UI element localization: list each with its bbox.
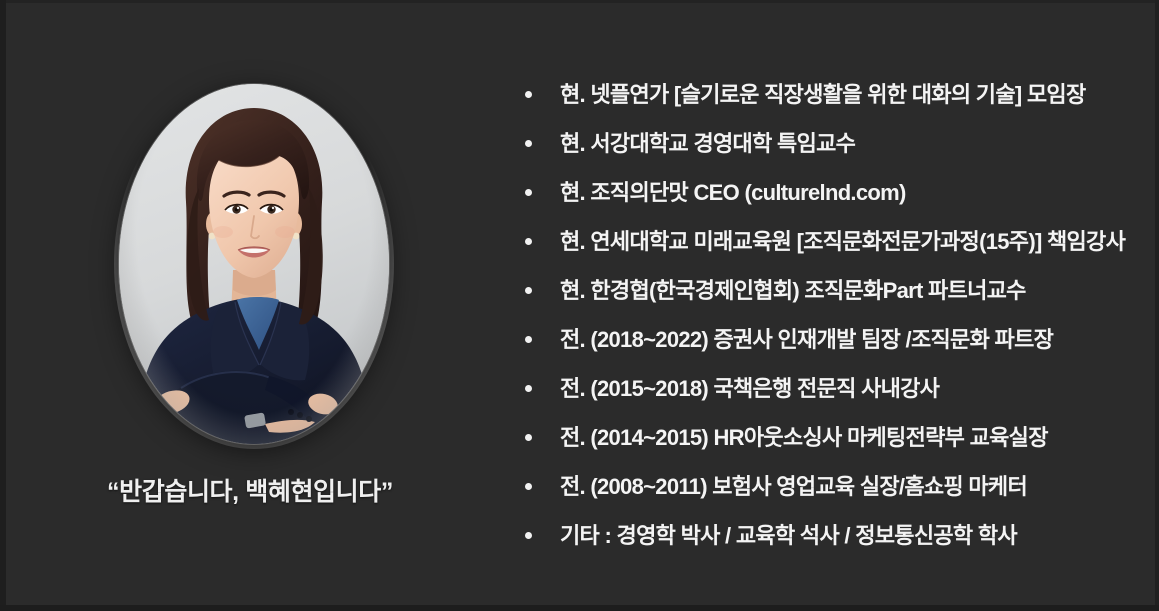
list-item-label: 전. (2014~2015) HR아웃소싱사 마케팅전략부 교육실장 bbox=[560, 424, 1048, 452]
bullet-dot-icon bbox=[525, 532, 532, 539]
headshot-photo bbox=[119, 84, 389, 444]
bullet-dot-icon bbox=[525, 483, 532, 490]
bullet-dot-icon bbox=[525, 385, 532, 392]
list-item-label: 기타 : 경영학 박사 / 교육학 석사 / 정보통신공학 학사 bbox=[560, 522, 1017, 550]
bullet-dot-icon bbox=[525, 91, 532, 98]
profile-slide: “반갑습니다, 백혜현입니다” 현. 넷플연가 [슬기로운 직장생활을 위한 대… bbox=[0, 0, 1159, 611]
portrait-container bbox=[119, 84, 389, 444]
slide-edge-right bbox=[1155, 0, 1159, 611]
list-item: 전. (2008~2011) 보험사 영업교육 실장/홈쇼핑 마케터 bbox=[518, 462, 1138, 511]
list-item-label: 현. 연세대학교 미래교육원 [조직문화전문가과정(15주)] 책임강사 bbox=[560, 228, 1125, 256]
list-item-label: 현. 넷플연가 [슬기로운 직장생활을 위한 대화의 기술] 모임장 bbox=[560, 81, 1086, 109]
list-item: 전. (2018~2022) 증권사 인재개발 팀장 /조직문화 파트장 bbox=[518, 315, 1138, 364]
bullet-dot-icon bbox=[525, 140, 532, 147]
portrait-caption-text: “반갑습니다, 백혜현입니다” bbox=[107, 472, 393, 508]
list-item-label: 현. 한경협(한국경제인협회) 조직문화Part 파트너교수 bbox=[560, 277, 1026, 305]
list-item-label: 현. 조직의단맛 CEO (culturelnd.com) bbox=[560, 179, 906, 207]
list-item-label: 전. (2018~2022) 증권사 인재개발 팀장 /조직문화 파트장 bbox=[560, 326, 1053, 354]
list-item-label: 전. (2008~2011) 보험사 영업교육 실장/홈쇼핑 마케터 bbox=[560, 473, 1027, 501]
list-item: 전. (2015~2018) 국책은행 전문직 사내강사 bbox=[518, 364, 1138, 413]
list-item: 기타 : 경영학 박사 / 교육학 석사 / 정보통신공학 학사 bbox=[518, 511, 1138, 560]
slide-edge-left bbox=[0, 0, 6, 611]
list-item: 전. (2014~2015) HR아웃소싱사 마케팅전략부 교육실장 bbox=[518, 413, 1138, 462]
list-item-label: 현. 서강대학교 경영대학 특임교수 bbox=[560, 130, 855, 158]
list-item: 현. 서강대학교 경영대학 특임교수 bbox=[518, 119, 1138, 168]
credentials-list: 현. 넷플연가 [슬기로운 직장생활을 위한 대화의 기술] 모임장 현. 서강… bbox=[518, 70, 1138, 560]
list-item: 현. 한경협(한국경제인협회) 조직문화Part 파트너교수 bbox=[518, 266, 1138, 315]
portrait-oval-frame bbox=[119, 84, 389, 444]
bullet-dot-icon bbox=[525, 336, 532, 343]
list-item: 현. 조직의단맛 CEO (culturelnd.com) bbox=[518, 168, 1138, 217]
slide-edge-bottom bbox=[0, 605, 1159, 611]
bullet-dot-icon bbox=[525, 189, 532, 196]
bullet-dot-icon bbox=[525, 287, 532, 294]
slide-edge-top bbox=[0, 0, 1159, 3]
portrait-caption: “반갑습니다, 백혜현입니다” bbox=[0, 472, 500, 508]
list-item-label: 전. (2015~2018) 국책은행 전문직 사내강사 bbox=[560, 375, 939, 403]
bullet-dot-icon bbox=[525, 238, 532, 245]
bullet-dot-icon bbox=[525, 434, 532, 441]
list-item: 현. 넷플연가 [슬기로운 직장생활을 위한 대화의 기술] 모임장 bbox=[518, 70, 1138, 119]
list-item: 현. 연세대학교 미래교육원 [조직문화전문가과정(15주)] 책임강사 bbox=[518, 217, 1138, 266]
